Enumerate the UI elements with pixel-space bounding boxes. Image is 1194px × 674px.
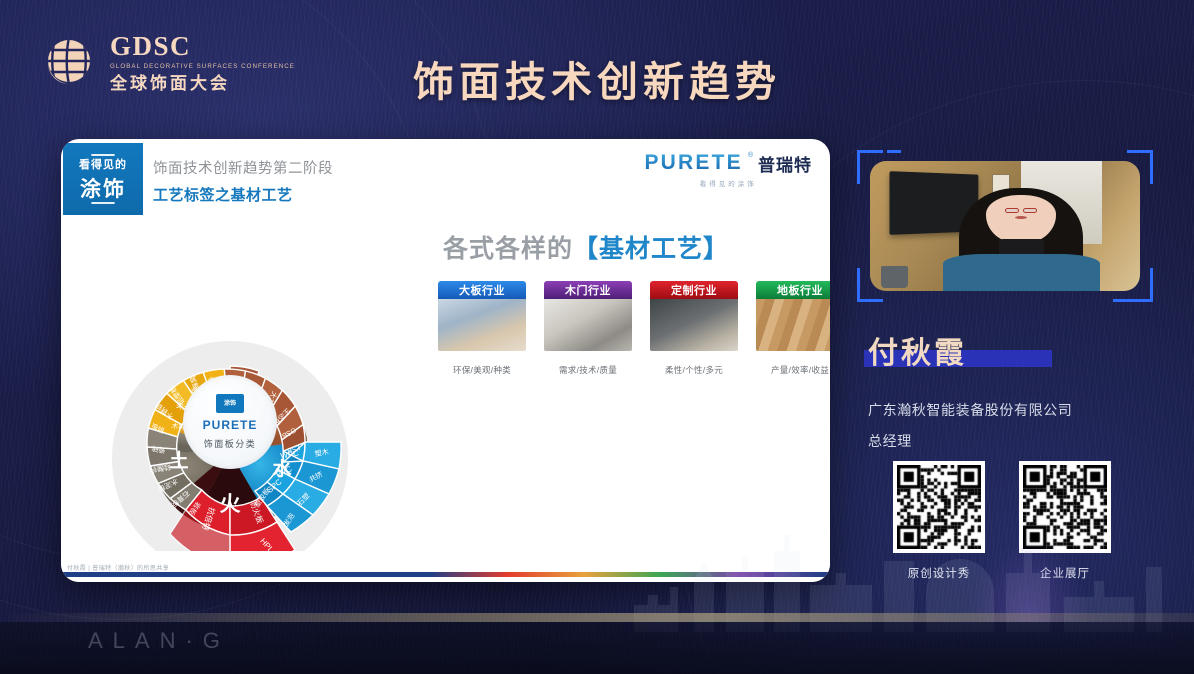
card-title: 地板行业	[756, 281, 830, 299]
page-title: 饰面技术创新趋势	[0, 48, 1194, 108]
card-caption: 柔性/个性/多元	[650, 364, 738, 376]
card-image-big-panel	[438, 299, 526, 351]
speaker-organization: 广东瀚秋智能装备股份有限公司	[868, 400, 1168, 420]
card-caption: 需求/技术/质量	[544, 364, 632, 376]
section-title-emphasis: 【基材工艺】	[573, 235, 729, 263]
video-feed[interactable]	[870, 161, 1140, 291]
speaker-info: 付秋霞 广东瀚秋智能装备股份有限公司 总经理	[868, 328, 1168, 451]
card-image-wood-door	[544, 299, 632, 351]
speaker-avatar	[951, 182, 1091, 291]
slide-right-panel: 各式各样的【基材工艺】 大板行业 环保/美观/种类 木门行业 需求/技术/质量	[376, 211, 818, 551]
wheel-center-brand: PURETE	[203, 418, 258, 432]
bottom-light-band	[0, 613, 1194, 622]
industry-card[interactable]: 大板行业 环保/美观/种类	[438, 281, 526, 376]
trash-bin	[881, 266, 908, 288]
card-caption: 产量/效率/收益	[756, 364, 830, 376]
slide-heading: 饰面技术创新趋势第二阶段	[153, 157, 333, 178]
purete-tagline: 看得见的涂饰	[644, 178, 812, 188]
slide-body: 木 金 土 火 水 MDF HDF 大芯板 生态板 OSB LSB	[61, 211, 830, 551]
section-title-prefix: 各式各样的	[443, 235, 573, 263]
speaker-name: 付秋霞	[868, 328, 971, 372]
industry-card[interactable]: 木门行业 需求/技术/质量	[544, 281, 632, 376]
card-caption: 环保/美观/种类	[438, 364, 526, 376]
slide-footer-note: 付秋霞 | 普瑞特（瀚秋）的所思共享	[67, 563, 169, 572]
glasses-icon	[1005, 208, 1037, 213]
card-image-flooring	[756, 299, 830, 351]
purete-logo: PURETE ® 普瑞特 看得见的涂饰	[644, 151, 812, 188]
mouth	[1015, 216, 1028, 219]
face	[986, 195, 1056, 243]
card-image-custom	[650, 299, 738, 351]
speaker-video-panel[interactable]	[857, 150, 1153, 302]
webinar-stage: GDSC GLOBAL DECORATIVE SURFACES CONFEREN…	[0, 0, 1194, 674]
logo-frame	[74, 154, 132, 204]
card-title: 木门行业	[544, 281, 632, 299]
material-classification-wheel: 木 金 土 火 水 MDF HDF 大芯板 生态板 OSB LSB	[99, 289, 361, 582]
wheel-center: 涂饰 PURETE 饰面板分类	[183, 375, 277, 469]
slide-heading-block: 饰面技术创新趋势第二阶段 工艺标签之基材工艺	[153, 157, 333, 205]
presentation-slide: 看得见的 涂饰 饰面技术创新趋势第二阶段 工艺标签之基材工艺 PURETE ® …	[61, 139, 830, 582]
card-title: 定制行业	[650, 281, 738, 299]
speaker-role: 总经理	[868, 431, 1168, 451]
speaker-name-text: 付秋霞	[868, 337, 967, 370]
slide-subheading: 工艺标签之基材工艺	[153, 184, 333, 205]
watermark-text: ALAN·G	[88, 628, 230, 654]
wheel-center-label: 饰面板分类	[204, 437, 257, 450]
svg-text:火: 火	[220, 493, 241, 516]
purete-wordmark: PURETE	[644, 151, 742, 175]
purete-chinese: 普瑞特	[758, 151, 812, 176]
industry-card[interactable]: 定制行业 柔性/个性/多元	[650, 281, 738, 376]
section-title: 各式各样的【基材工艺】	[376, 229, 796, 265]
visible-coating-logo: 看得见的 涂饰	[63, 143, 143, 215]
wheel-center-badge: 涂饰	[216, 394, 244, 413]
registered-icon: ®	[748, 152, 753, 159]
card-title: 大板行业	[438, 281, 526, 299]
industry-card[interactable]: 地板行业 产量/效率/收益	[756, 281, 830, 376]
slide-header: 看得见的 涂饰 饰面技术创新趋势第二阶段 工艺标签之基材工艺 PURETE ® …	[61, 139, 830, 211]
svg-text:土: 土	[169, 450, 188, 472]
blazer	[943, 254, 1100, 291]
industry-cards: 大板行业 环保/美观/种类 木门行业 需求/技术/质量 定制行业 柔性/个性/多…	[438, 281, 830, 376]
